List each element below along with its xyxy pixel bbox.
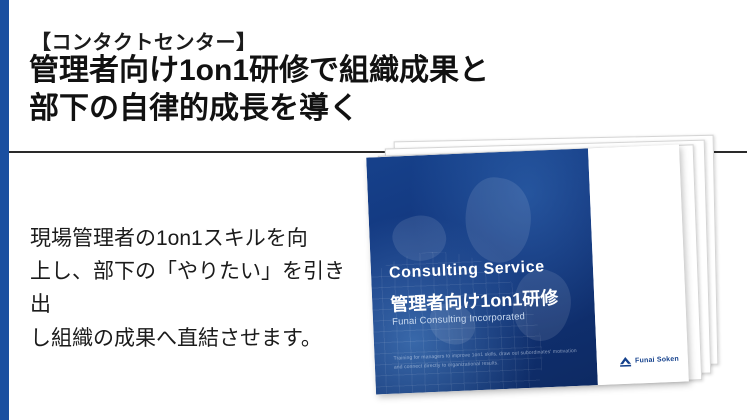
header-eyebrow: 【コンタクトセンター】	[31, 26, 257, 55]
brochure-cover-left-panel: Consulting Service 管理者向け1on1研修 Funai Con…	[366, 148, 598, 394]
brochure-logo-text: Funai Soken	[635, 356, 679, 365]
brochure-logo: Funai Soken	[619, 353, 679, 368]
page-title: 管理者向け1on1研修で組織成果と 部下の自律的成長を導く	[29, 52, 489, 129]
left-accent-bar	[0, 0, 9, 420]
body-description: 現場管理者の1on1スキルを向 上し、部下の「やりたい」を引き出 し組織の成果へ…	[30, 222, 360, 355]
header-block: 【コンタクトセンター】 管理者向け1on1研修で組織成果と 部下の自律的成長を導…	[9, 0, 747, 152]
funai-soken-logo-icon	[619, 355, 633, 369]
brochure-cover-image: Consulting Service 管理者向け1on1研修 Funai Con…	[366, 145, 689, 395]
brochure-cover-right-panel: Funai Soken	[588, 145, 689, 386]
slide-canvas: 【コンタクトセンター】 管理者向け1on1研修で組織成果と 部下の自律的成長を導…	[0, 0, 747, 420]
map-shape-icon	[458, 173, 537, 267]
